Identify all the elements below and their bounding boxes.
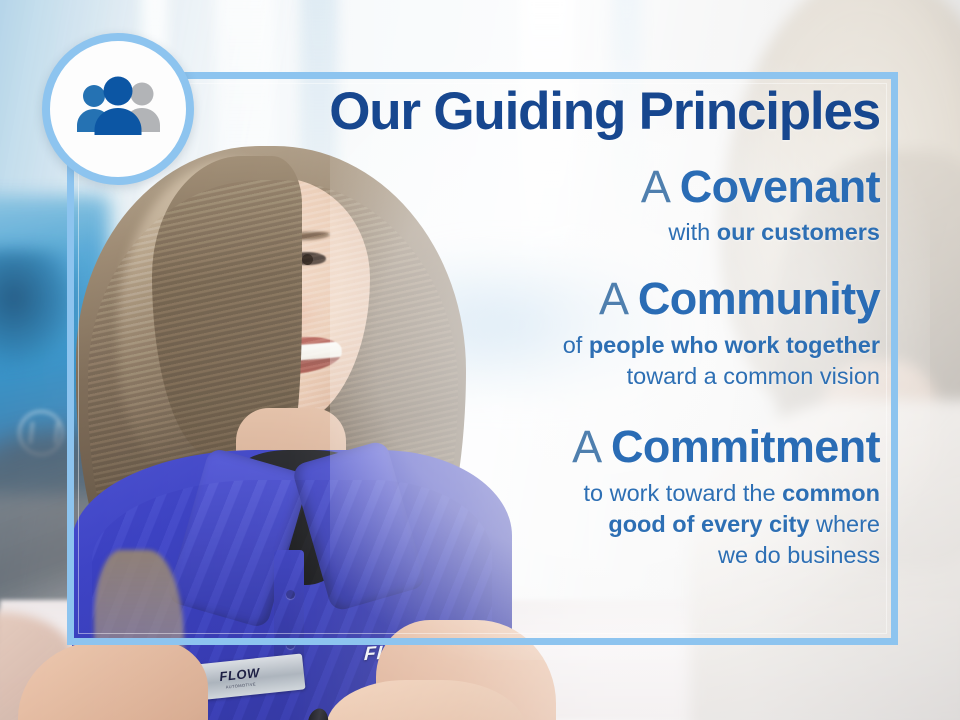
sub-bold: common (782, 480, 880, 506)
sub-line: to work toward the common (180, 478, 880, 509)
banner-graphic: FLOW AUTOMOTIVE FLOW (0, 0, 960, 720)
sub-normal: we do business (718, 542, 880, 568)
sub-bold: people who work together (589, 332, 880, 358)
principle-commitment-sub: to work toward the common good of every … (180, 478, 880, 572)
copy-block: Our Guiding Principles A Covenant with o… (180, 84, 880, 575)
sub-line: toward a common vision (180, 361, 880, 392)
sub-normal: of (563, 332, 589, 358)
sub-normal: toward a common vision (627, 363, 880, 389)
principle-commitment: A Commitment to work toward the common g… (180, 422, 880, 571)
principle-covenant: A Covenant with our customers (180, 162, 880, 249)
page-title: Our Guiding Principles (180, 84, 880, 140)
sub-line: we do business (180, 540, 880, 571)
principle-key-word: Community (638, 273, 880, 324)
principle-commitment-title: A Commitment (180, 422, 880, 472)
principle-key-word: Commitment (611, 421, 880, 472)
principle-community: A Community of people who work together … (180, 274, 880, 392)
principle-covenant-sub: with our customers (180, 217, 880, 248)
sub-normal: with (668, 219, 716, 245)
principle-lead-word: A (572, 421, 599, 472)
sub-normal-after: where (809, 511, 880, 537)
principle-lead-word: A (599, 273, 626, 324)
sub-normal: to work toward the (584, 480, 783, 506)
principle-community-sub: of people who work together toward a com… (180, 330, 880, 393)
principle-community-title: A Community (180, 274, 880, 324)
principle-lead-word: A (641, 161, 668, 212)
sub-line: good of every city where (180, 509, 880, 540)
principle-key-word: Covenant (680, 161, 880, 212)
sub-bold: our customers (717, 219, 880, 245)
principle-covenant-title: A Covenant (180, 162, 880, 212)
sub-line: with our customers (180, 217, 880, 248)
sub-line: of people who work together (180, 330, 880, 361)
sub-bold: good of every city (608, 511, 809, 537)
people-badge (42, 33, 194, 185)
people-group-icon (70, 75, 166, 143)
